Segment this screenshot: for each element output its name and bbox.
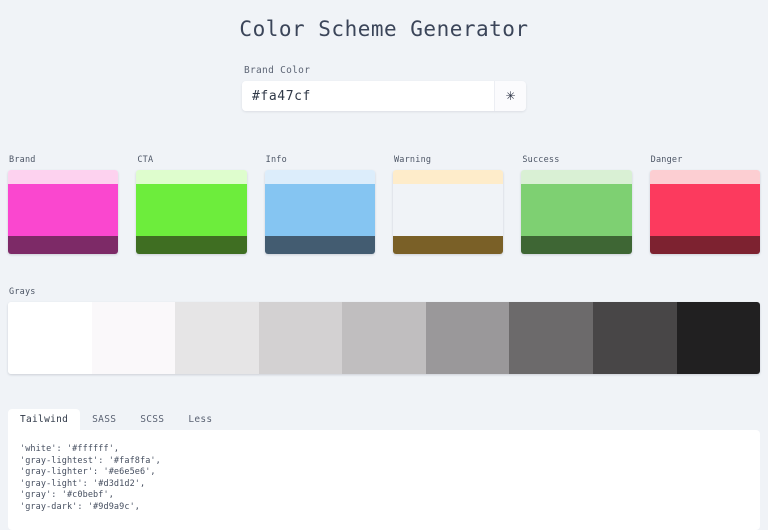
code-output-section: TailwindSASSSCSSLess 'white': '#ffffff',… [8,408,760,508]
swatch-color-stack[interactable] [136,170,246,254]
grays-label: Grays [8,287,760,297]
swatch-color-stack[interactable] [650,170,760,254]
swatch-band-light[interactable] [265,170,375,184]
gray-swatch[interactable] [593,302,677,374]
gray-swatch[interactable] [92,302,176,374]
swatch-band-main[interactable] [265,184,375,236]
gray-swatch[interactable] [8,302,92,374]
gray-swatch[interactable] [426,302,510,374]
gray-swatch[interactable] [509,302,593,374]
swatch-band-main[interactable] [393,184,503,236]
gray-swatch[interactable] [259,302,343,374]
sparkle-shuffle-icon: ✳ [505,90,515,102]
gray-swatch[interactable] [342,302,426,374]
swatch-color-stack[interactable] [265,170,375,254]
swatch-band-light[interactable] [393,170,503,184]
grays-section: Grays [8,287,760,374]
swatch-label: Info [265,155,375,165]
swatch-band-main[interactable] [521,184,631,236]
page-title: Color Scheme Generator [0,0,768,41]
tab-less[interactable]: Less [176,409,224,430]
swatch-band-dark[interactable] [393,236,503,254]
code-line: 'gray': '#c0bebf', [20,490,748,502]
swatch-cta[interactable]: CTA [136,155,246,254]
grays-strip [8,302,760,374]
swatch-color-stack[interactable] [393,170,503,254]
swatch-label: Brand [8,155,118,165]
brand-color-label: Brand Color [242,65,526,76]
gray-swatch[interactable] [677,302,761,374]
swatch-band-light[interactable] [136,170,246,184]
brand-color-field-group: Brand Color ✳ [242,65,526,111]
brand-color-input[interactable] [242,81,494,111]
swatch-band-dark[interactable] [8,236,118,254]
gray-swatch[interactable] [175,302,259,374]
swatch-band-dark[interactable] [521,236,631,254]
swatch-band-dark[interactable] [650,236,760,254]
code-line: 'gray-light': '#d3d1d2', [20,479,748,491]
code-line: 'gray-lighter': '#e6e5e6', [20,467,748,479]
swatch-brand[interactable]: Brand [8,155,118,254]
swatch-label: Warning [393,155,503,165]
swatch-success[interactable]: Success [521,155,631,254]
app-root: Color Scheme Generator Brand Color ✳ Bra… [0,0,768,508]
tab-tailwind[interactable]: Tailwind [8,409,80,430]
code-line: 'white': '#ffffff', [20,444,748,456]
palette-swatch-grid: BrandCTAInfoWarningSuccessDanger [8,155,760,254]
swatch-band-dark[interactable] [136,236,246,254]
swatch-band-light[interactable] [650,170,760,184]
randomize-color-button[interactable]: ✳ [494,81,526,111]
swatch-band-main[interactable] [650,184,760,236]
code-format-tabs: TailwindSASSSCSSLess [8,408,760,430]
swatch-label: Danger [650,155,760,165]
code-line: 'gray-dark': '#9d9a9c', [20,502,748,514]
swatch-warning[interactable]: Warning [393,155,503,254]
swatch-band-light[interactable] [521,170,631,184]
swatch-danger[interactable]: Danger [650,155,760,254]
swatch-band-light[interactable] [8,170,118,184]
swatch-color-stack[interactable] [521,170,631,254]
swatch-info[interactable]: Info [265,155,375,254]
code-line: 'gray-lightest': '#faf8fa', [20,456,748,468]
swatch-band-main[interactable] [136,184,246,236]
tab-scss[interactable]: SCSS [128,409,176,430]
swatch-band-dark[interactable] [265,236,375,254]
swatch-color-stack[interactable] [8,170,118,254]
code-output-panel: 'white': '#ffffff','gray-lightest': '#fa… [8,430,760,530]
swatch-label: Success [521,155,631,165]
brand-color-input-row: ✳ [242,81,526,111]
swatch-band-main[interactable] [8,184,118,236]
tab-sass[interactable]: SASS [80,409,128,430]
swatch-label: CTA [136,155,246,165]
